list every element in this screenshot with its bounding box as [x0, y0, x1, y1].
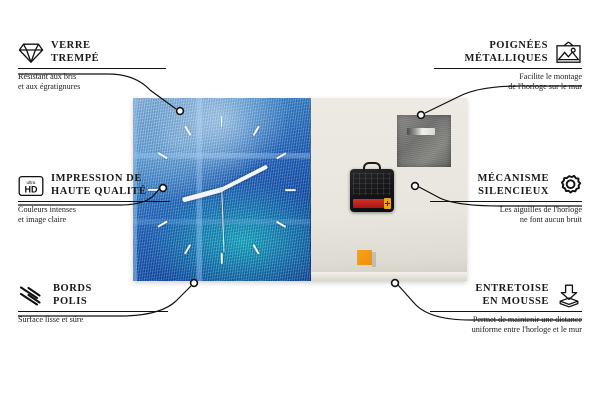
- callout-desc: Résistant aux bris et aux égratignures: [18, 72, 166, 92]
- callout-rule: [434, 68, 582, 69]
- mechanism-texture: [353, 173, 391, 195]
- callout-verre-trempe: VERRE TREMPÉ Résistant aux bris et aux é…: [18, 40, 166, 92]
- callout-desc: Les aiguilles de l'horloge ne font aucun…: [430, 205, 582, 225]
- hour-tick: [221, 190, 223, 266]
- callout-entretoise-en-mousse: ENTRETOISE EN MOUSSE Permet de maintenir…: [430, 283, 582, 335]
- callout-rule: [430, 311, 582, 312]
- hour-tick: [221, 151, 288, 191]
- ultra-hd-icon-bottom-text: HD: [25, 184, 38, 194]
- metal-hanger-plate: [397, 115, 451, 167]
- hanger-loop: [363, 162, 381, 171]
- battery: [353, 199, 388, 208]
- callout-rule: [18, 311, 168, 312]
- callout-title: IMPRESSION DE HAUTE QUALITÉ: [51, 173, 147, 198]
- picture-frame-hanger-icon: [555, 41, 582, 65]
- callout-poignees-metalliques: POIGNÉES MÉTALLIQUES Facilite le montage…: [434, 40, 582, 92]
- gear-icon: [556, 174, 582, 198]
- callout-rule: [18, 68, 166, 69]
- hour-hand: [182, 187, 222, 202]
- callout-title: VERRE TREMPÉ: [51, 40, 99, 65]
- callout-mecanisme-silencieux: MÉCANISME SILENCIEUX Les aiguilles de l'…: [430, 173, 582, 225]
- product-photo: [133, 98, 467, 281]
- clock-mechanism: [350, 169, 394, 212]
- hour-tick: [221, 189, 261, 256]
- hand-center-cap: [219, 187, 224, 192]
- hour-tick: [221, 189, 288, 229]
- callout-title: POIGNÉES MÉTALLIQUES: [465, 40, 548, 65]
- callout-bords-polis: BORDS POLIS Surface lisse et sûre: [18, 283, 168, 325]
- hour-tick: [183, 123, 223, 190]
- second-hand: [221, 189, 224, 251]
- callout-title: ENTRETOISE EN MOUSSE: [475, 283, 549, 308]
- callout-title: BORDS POLIS: [53, 283, 92, 308]
- callout-desc: Couleurs intenses et image claire: [18, 205, 170, 225]
- infographic-canvas: VERRE TREMPÉ Résistant aux bris et aux é…: [0, 0, 600, 400]
- battery-terminal-icon: [384, 198, 391, 209]
- callout-rule: [18, 201, 170, 202]
- callout-desc: Surface lisse et sûre: [18, 315, 168, 325]
- hour-tick: [221, 123, 261, 190]
- polished-edge-lines-icon: [18, 285, 46, 307]
- callout-desc: Facilite le montage de l'horloge sur le …: [434, 72, 582, 92]
- minute-hand: [221, 164, 269, 191]
- hour-tick: [183, 189, 223, 256]
- callout-impression-haute-qualite: ultra HD IMPRESSION DE HAUTE QUALITÉ Cou…: [18, 173, 170, 225]
- ultra-hd-icon: ultra HD: [18, 175, 44, 197]
- arrow-down-pad-icon: [556, 284, 582, 308]
- callout-desc: Permet de maintenir une distance uniform…: [430, 315, 582, 335]
- callout-rule: [430, 201, 582, 202]
- hour-tick: [221, 114, 223, 190]
- foam-spacer: [357, 250, 372, 265]
- callout-title: MÉCANISME SILENCIEUX: [478, 173, 549, 198]
- hour-tick: [222, 189, 298, 191]
- diamond-icon: [18, 42, 44, 64]
